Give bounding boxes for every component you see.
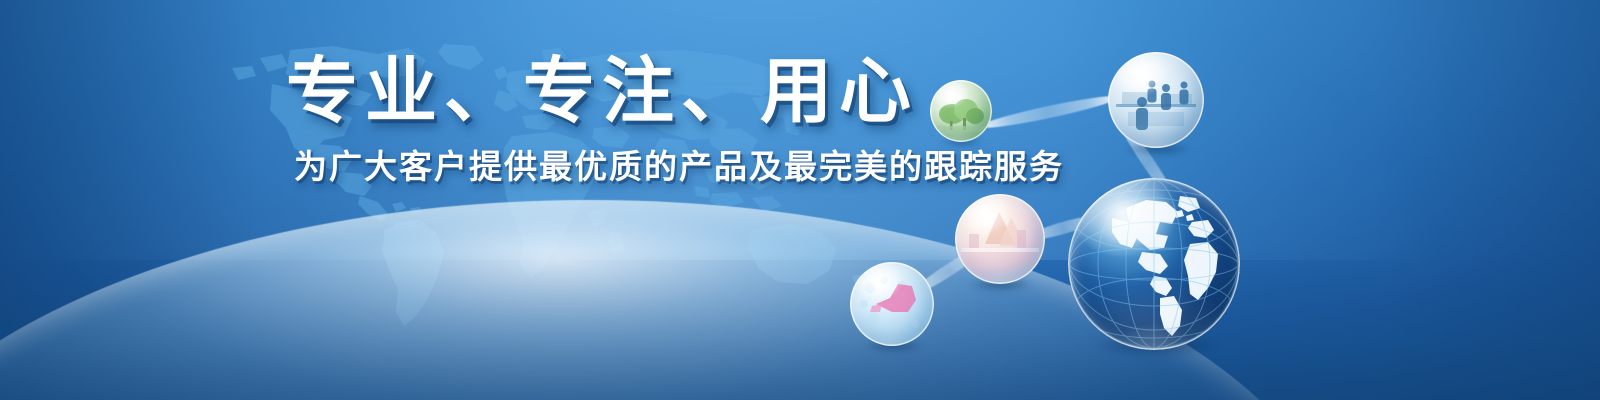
promo-banner: 专业、专注、用心 为广大客户提供最优质的产品及最完美的跟踪服务	[0, 0, 1600, 400]
business-people-icon	[1108, 52, 1204, 148]
region-map-sphere	[850, 262, 934, 346]
globe-meridian-grid	[1068, 178, 1240, 350]
main-earth-globe	[1068, 178, 1240, 350]
tree-icon	[930, 80, 992, 142]
nature-sphere	[930, 80, 992, 142]
connected-spheres-cluster	[830, 44, 1190, 364]
region-map-icon	[850, 262, 934, 346]
connector-nature-to-people	[978, 91, 1119, 132]
background-bottom-shade	[0, 250, 1600, 400]
business-people-sphere	[1108, 52, 1204, 148]
cityscape-sphere	[955, 194, 1045, 284]
cityscape-icon	[955, 194, 1045, 284]
